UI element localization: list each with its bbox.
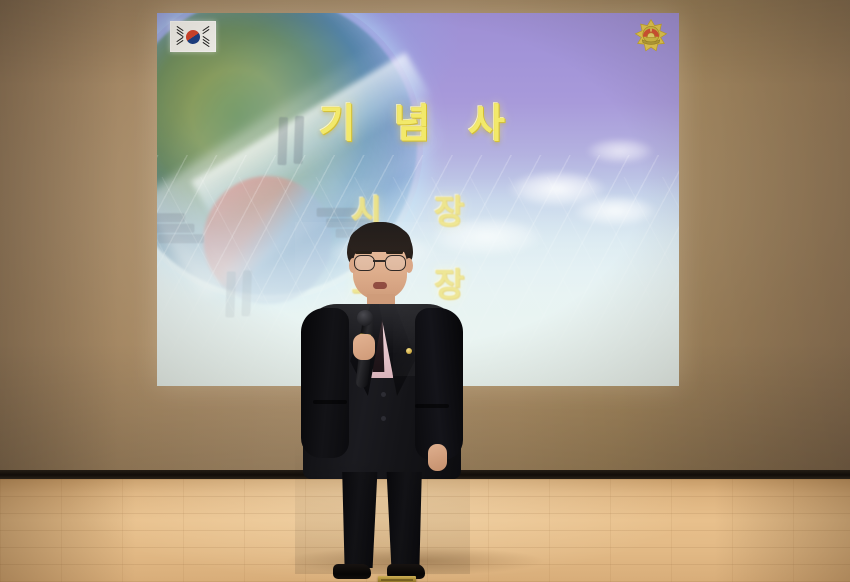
jacket-pocket-right [415,404,449,408]
marker-plate-inner [381,579,413,581]
eyebrow-right [386,251,403,254]
stage-floor-marker-plate [378,576,416,582]
hand-right [428,444,447,471]
hair-fringe [349,228,411,252]
ear-right [405,258,413,273]
jacket-button-upper [381,392,386,397]
eyeglasses-bridge [373,260,385,262]
arm-left [301,308,349,458]
eyeglasses-right-lens [385,255,406,271]
trouser-leg-left [339,472,379,568]
speaking-person [295,222,470,574]
eyebrow-left [355,251,372,254]
arm-right [415,308,463,460]
eyeglasses-left-lens [354,255,375,271]
trouser-leg-right [385,472,425,568]
legs [335,472,431,576]
shoe-left [333,564,371,579]
jacket-pocket-left [313,400,347,404]
jacket-button-lower [381,416,386,421]
stage-scene: 기 념 사 시 장 의 장 [0,0,850,582]
hand-holding-microphone [353,334,375,360]
lapel-pin-icon [406,348,412,354]
mouth [373,282,387,289]
